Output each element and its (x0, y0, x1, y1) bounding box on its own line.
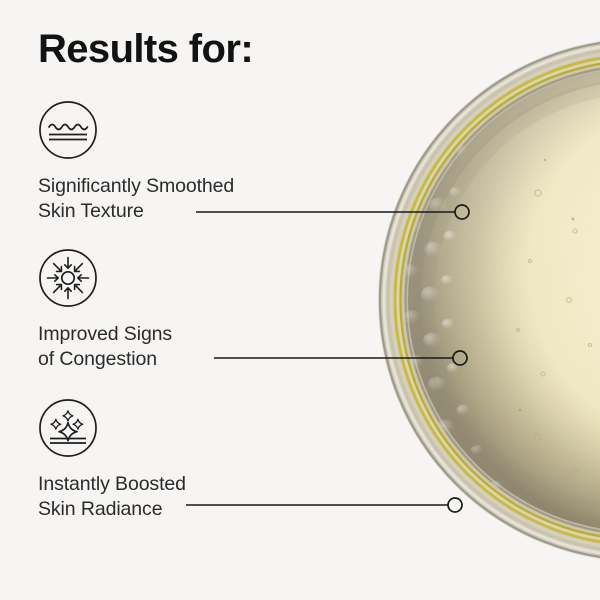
page-title: Results for: (38, 28, 253, 70)
congestion-inward-arrows-icon (38, 248, 98, 308)
skin-texture-waves-icon (38, 100, 98, 160)
benefit-label: Improved Signs of Congestion (38, 322, 172, 372)
benefit-item-skin-texture: Significantly Smoothed Skin Texture (38, 100, 234, 224)
radiance-sparkles-icon (38, 398, 98, 458)
benefit-label: Instantly Boosted Skin Radiance (38, 472, 186, 522)
infographic-canvas: Results for: Significantly Smoothed Skin… (0, 0, 600, 600)
benefit-item-radiance: Instantly Boosted Skin Radiance (38, 398, 186, 522)
benefit-label: Significantly Smoothed Skin Texture (38, 174, 234, 224)
benefit-item-congestion: Improved Signs of Congestion (38, 248, 172, 372)
